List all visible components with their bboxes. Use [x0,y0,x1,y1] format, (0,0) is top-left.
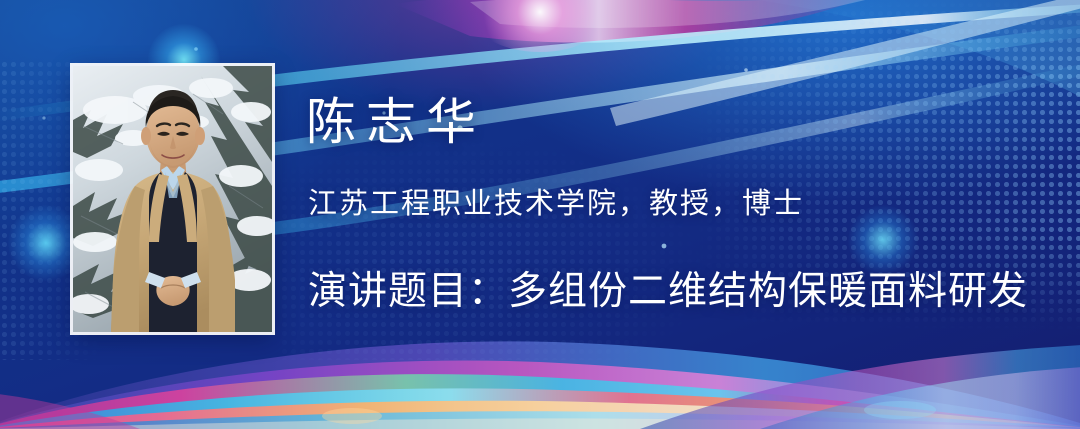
magenta-glow-point [470,0,610,52]
speaker-affiliation: 江苏工程职业技术学院，教授，博士 [308,180,804,222]
speaker-name: 陈志华 [306,82,486,154]
speaker-banner: 陈志华 江苏工程职业技术学院，教授，博士 演讲题目：多组份二维结构保暖面料研发 [0,0,1080,429]
talk-title: 演讲题目：多组份二维结构保暖面料研发 [308,260,1028,316]
dot-matrix-center [280,140,700,360]
portrait-illustration [73,66,272,332]
bottom-wave-band [0,341,1080,429]
speaker-photo [73,66,272,332]
